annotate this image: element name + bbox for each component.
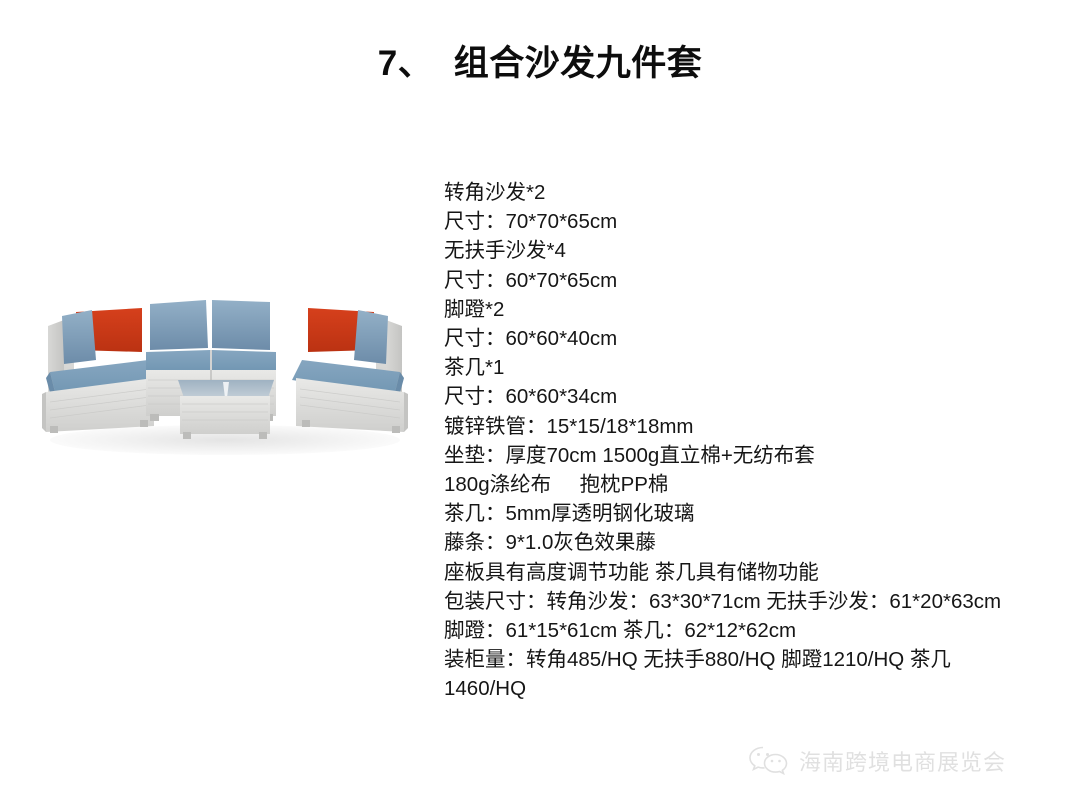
coffee-table (178, 380, 274, 439)
spec-line: 茶几：5mm厚透明钢化玻璃 (444, 499, 1024, 528)
back-pillow-right (354, 310, 388, 364)
wechat-icon (748, 744, 790, 778)
spec-line: 装柜量：转角485/HQ 无扶手880/HQ 脚蹬1210/HQ 茶几1460/… (444, 645, 1024, 703)
spec-line: 转角沙发*2 (444, 178, 1024, 207)
seat-cushion-center-right (212, 350, 276, 372)
sofa-left-corner (42, 308, 158, 433)
spec-line: 尺寸：70*70*65cm (444, 207, 1024, 236)
back-pillow-center-left (150, 300, 208, 350)
spec-line: 座板具有高度调节功能 茶几具有储物功能 (444, 558, 1024, 587)
page-title: 7、 组合沙发九件套 (0, 44, 1080, 84)
back-pillow-left (62, 310, 96, 364)
slide-canvas: 7、 组合沙发九件套 (0, 0, 1080, 810)
watermark-text: 海南跨境电商展览会 (799, 745, 1006, 777)
spec-line: 无扶手沙发*4 (444, 236, 1024, 265)
spec-line: 茶几*1 (444, 353, 1024, 382)
spec-line: 180g涤纶布 抱枕PP棉 (444, 470, 1024, 499)
table-base (180, 396, 270, 434)
spec-line: 脚蹬*2 (444, 295, 1024, 324)
spec-line: 镀锌铁管：15*15/18*18mm (444, 412, 1024, 441)
spec-line: 藤条：9*1.0灰色效果藤 (444, 528, 1024, 557)
spec-line: 坐垫：厚度70cm 1500g直立棉+无纺布套 (444, 441, 1024, 470)
product-image (30, 268, 420, 458)
sofa-right-corner (292, 308, 408, 433)
spec-line: 尺寸：60*70*65cm (444, 266, 1024, 295)
sofa-set-illustration (30, 268, 420, 458)
back-pillow-center-right (212, 300, 270, 350)
spec-line: 尺寸：60*60*40cm (444, 324, 1024, 353)
spec-line: 尺寸：60*60*34cm (444, 382, 1024, 411)
watermark: 海南跨境电商展览会 (748, 744, 1006, 778)
spec-line: 包装尺寸：转角沙发：63*30*71cm 无扶手沙发：61*20*63cm 脚蹬… (444, 587, 1024, 645)
specification-list: 转角沙发*2 尺寸：70*70*65cm 无扶手沙发*4 尺寸：60*70*65… (444, 178, 1024, 704)
seat-cushion-center-left (146, 350, 210, 372)
